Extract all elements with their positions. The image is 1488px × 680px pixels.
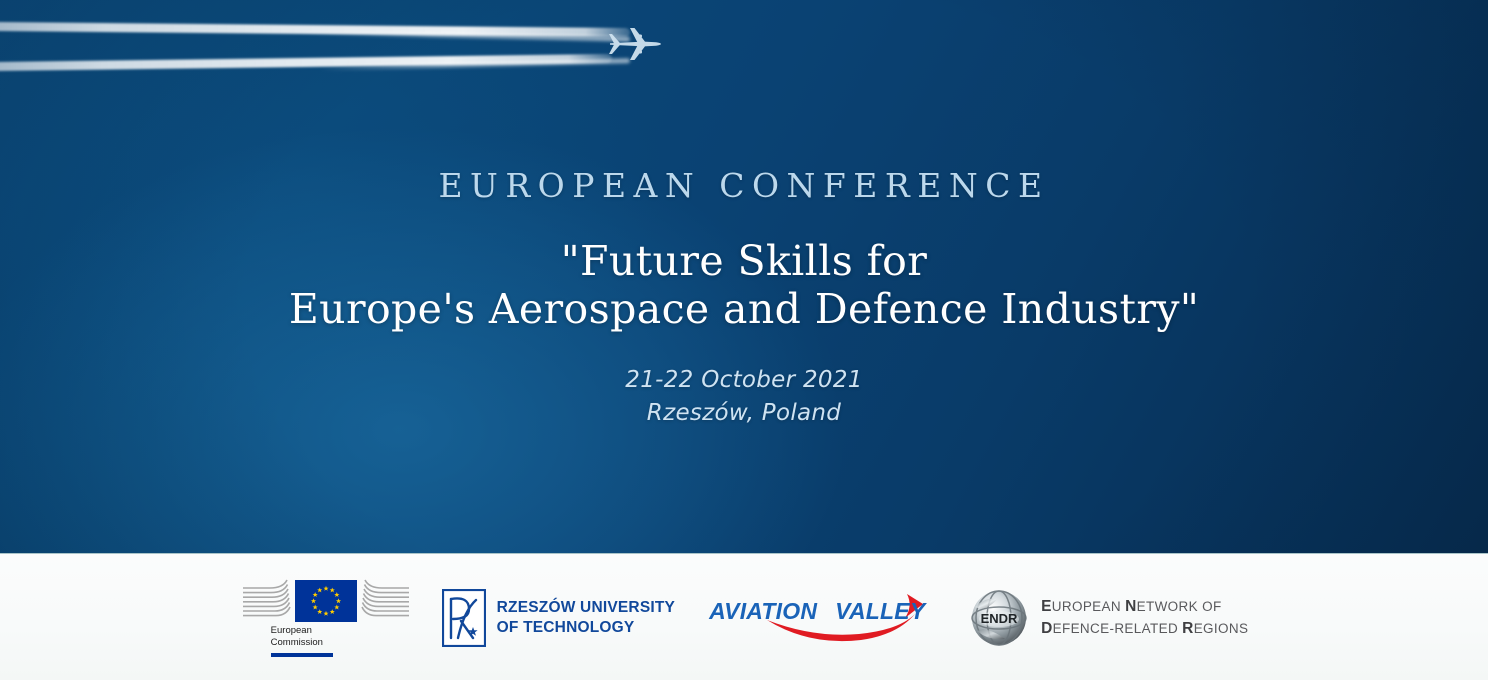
- logo-european-commission[interactable]: European Commission: [240, 578, 416, 656]
- event-date: 21-22 October 2021: [625, 367, 862, 393]
- eu-flag-icon: [295, 580, 357, 622]
- logo-aviation-valley[interactable]: AVIATIONVALLEY: [709, 590, 931, 646]
- sponsor-logo-bar: European Commission: [0, 553, 1488, 680]
- ec-emblem: [240, 578, 416, 622]
- endr-metallic-globe-icon: ENDR: [969, 589, 1029, 647]
- endr-text-line-1: EUROPEAN NETWORK OF: [1041, 596, 1248, 618]
- poster-text-content: EUROPEAN CONFERENCE "Future Skills for E…: [0, 0, 1488, 430]
- rzeszow-text-line-2: OF TECHNOLOGY: [497, 618, 675, 638]
- conference-poster: EUROPEAN CONFERENCE "Future Skills for E…: [0, 0, 1488, 680]
- logo-european-network-of-defence-related-regions[interactable]: ENDR EUROPEAN NETWORK OF DEFENCE-RELATED…: [969, 589, 1248, 647]
- ec-wave-right-icon: [360, 578, 412, 622]
- headline-line-2: Europe's Aerospace and Defence Industry": [0, 286, 1488, 334]
- endr-line1-rest-b: ETWORK OF: [1137, 599, 1222, 614]
- rzeszow-text-line-1: RZESZÓW UNIVERSITY: [497, 598, 675, 618]
- event-meta: 21-22 October 2021 Rzeszów, Poland: [0, 364, 1488, 429]
- endr-line2-cap-r: R: [1182, 620, 1194, 637]
- logo-rzeszow-university-of-technology[interactable]: RZESZÓW UNIVERSITY OF TECHNOLOGY: [442, 589, 675, 647]
- ec-caption-line-2: Commission: [271, 637, 416, 649]
- endr-text-line-2: DEFENCE-RELATED REGIONS: [1041, 618, 1248, 640]
- endr-logo-text: EUROPEAN NETWORK OF DEFENCE-RELATED REGI…: [1041, 596, 1248, 640]
- endr-globe-label: ENDR: [981, 611, 1018, 626]
- ec-caption-line-1: European: [271, 625, 416, 637]
- page-title-kicker: EUROPEAN CONFERENCE: [0, 168, 1488, 204]
- sponsor-logo-list: European Commission: [0, 554, 1488, 680]
- aviation-valley-word-2: VALLEY: [835, 598, 925, 624]
- ec-underline-rule: [271, 653, 333, 657]
- endr-line1-cap-n: N: [1125, 598, 1137, 615]
- endr-line2-cap-d: D: [1041, 620, 1053, 637]
- rzeszow-pr-monogram-icon: [442, 589, 486, 647]
- headline-line-1: "Future Skills for: [561, 237, 928, 285]
- endr-line1-cap-e: E: [1041, 598, 1052, 615]
- endr-line2-rest-b: EGIONS: [1194, 621, 1249, 636]
- ec-caption: European Commission: [271, 625, 416, 648]
- page-title: "Future Skills for Europe's Aerospace an…: [0, 238, 1488, 333]
- endr-line2-rest-a: EFENCE-RELATED: [1053, 621, 1183, 636]
- event-location: Rzeszów, Poland: [0, 397, 1488, 430]
- endr-line1-rest-a: UROPEAN: [1052, 599, 1125, 614]
- aviation-valley-text: AVIATIONVALLEY: [709, 598, 925, 625]
- ec-wave-left-icon: [240, 578, 292, 622]
- aviation-valley-word-1: AVIATION: [709, 598, 817, 624]
- rzeszow-logo-text: RZESZÓW UNIVERSITY OF TECHNOLOGY: [497, 598, 675, 637]
